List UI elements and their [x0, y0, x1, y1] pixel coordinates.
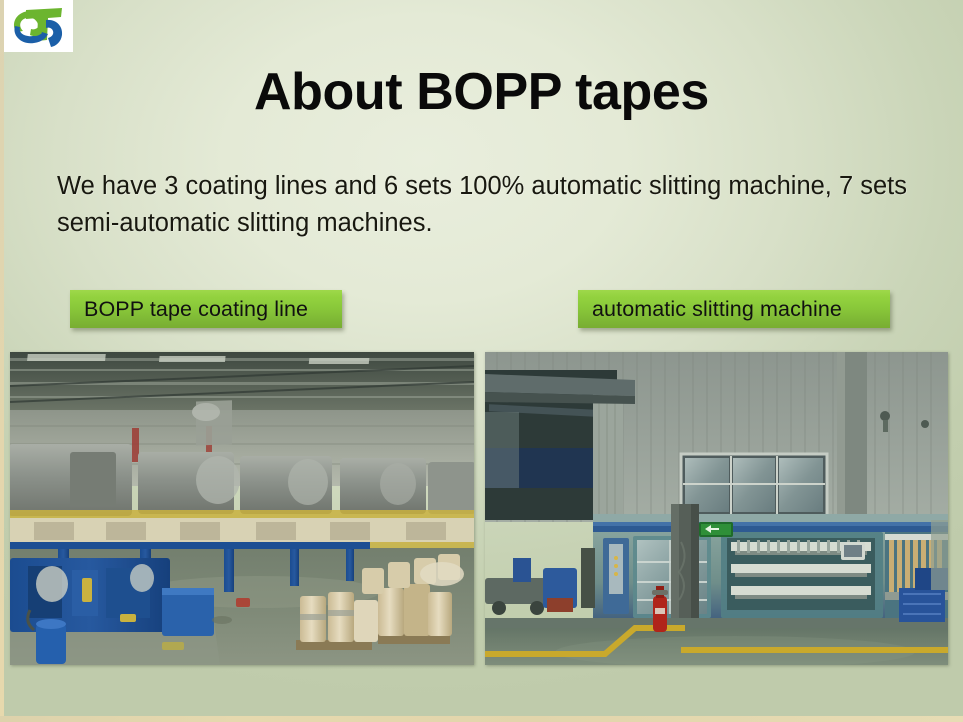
- page-title: About BOPP tapes: [0, 62, 963, 122]
- slide-canvas: About BOPP tapes We have 3 coating lines…: [0, 0, 963, 722]
- slide-edge-left-strip: [0, 0, 4, 722]
- slide-edge-bottom-strip: [0, 716, 963, 722]
- company-logo: [3, 0, 73, 52]
- caption-right-label: automatic slitting machine: [592, 297, 842, 322]
- caption-automatic-slitting-machine: automatic slitting machine: [578, 290, 890, 328]
- company-logo-mark: [6, 2, 70, 50]
- caption-left-label: BOPP tape coating line: [84, 297, 308, 322]
- coating-line-illustration: [10, 352, 474, 665]
- bopp-tape-coating-line-photo: [10, 352, 474, 665]
- automatic-slitting-machine-photo: [485, 352, 948, 665]
- slitting-machine-illustration: [485, 352, 948, 665]
- slide-body-text: We have 3 coating lines and 6 sets 100% …: [57, 168, 909, 242]
- caption-bopp-tape-coating-line: BOPP tape coating line: [70, 290, 342, 328]
